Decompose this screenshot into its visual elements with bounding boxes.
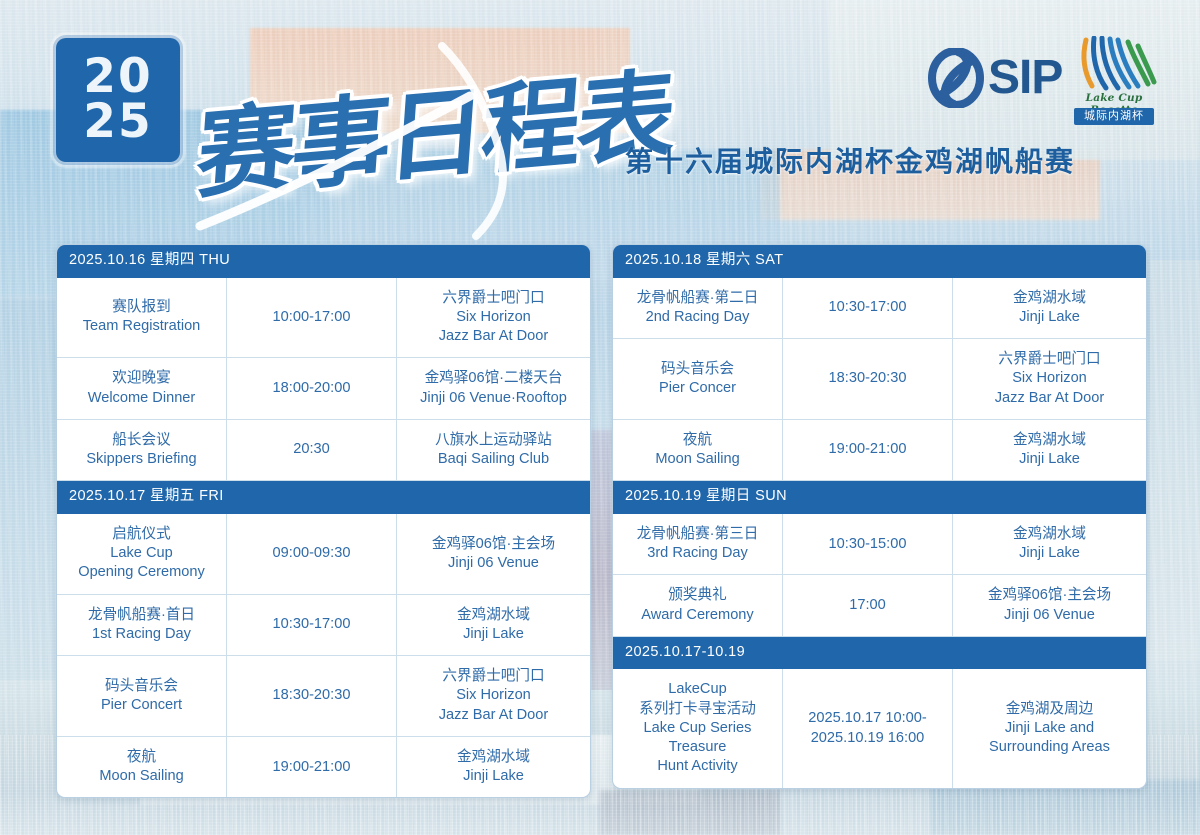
time-cell: 19:00-21:00 xyxy=(227,737,397,798)
time-cell: 2025.10.17 10:00-2025.10.19 16:00 xyxy=(783,669,953,787)
cell-line: 赛队报到 xyxy=(112,298,170,317)
cell-line: 18:00-20:00 xyxy=(273,379,351,398)
cell-line: Jinji Lake xyxy=(463,625,524,644)
table-row: 码头音乐会Pier Concert18:30-20:30六界爵士吧门口Six H… xyxy=(57,656,590,737)
cell-line: Jinji 06 Venue·Rooftop xyxy=(420,389,567,408)
venue-cell: 金鸡湖水域Jinji Lake xyxy=(953,420,1146,481)
event-cell: 夜航Moon Sailing xyxy=(57,737,227,798)
poster-subtitle: 第十六届城际内湖杯金鸡湖帆船赛 xyxy=(625,140,1075,180)
table-row: 欢迎晚宴Welcome Dinner18:00-20:00金鸡驿06馆·二楼天台… xyxy=(57,358,590,420)
event-cell: 龙骨帆船赛·第二日2nd Racing Day xyxy=(613,278,783,339)
event-cell: 颁奖典礼Award Ceremony xyxy=(613,575,783,636)
cell-line: 船长会议 xyxy=(112,431,170,450)
event-cell: 码头音乐会Pier Concert xyxy=(57,656,227,736)
logo-sip: SIP xyxy=(928,48,1062,108)
table-row: 夜航Moon Sailing19:00-21:00金鸡湖水域Jinji Lake xyxy=(613,420,1146,482)
table-row: 船长会议Skippers Briefing20:30八旗水上运动驿站Baqi S… xyxy=(57,420,590,482)
calligraphy-title: 赛事日程表 xyxy=(196,42,626,212)
venue-cell: 金鸡驿06馆·主会场Jinji 06 Venue xyxy=(953,575,1146,636)
cell-line: 码头音乐会 xyxy=(661,360,734,379)
time-cell: 19:00-21:00 xyxy=(783,420,953,481)
venue-cell: 八旗水上运动驿站Baqi Sailing Club xyxy=(397,420,590,481)
lake-cup-sail-fan-icon xyxy=(1072,36,1158,94)
day-header: 2025.10.17 星期五 FRI xyxy=(57,481,590,514)
cell-line: 金鸡驿06馆·主会场 xyxy=(432,535,555,554)
venue-cell: 六界爵士吧门口Six HorizonJazz Bar At Door xyxy=(397,656,590,736)
cell-line: 夜航 xyxy=(683,431,712,450)
cell-line: Lake Cup Series Treasure xyxy=(619,719,776,758)
cell-line: 龙骨帆船赛·首日 xyxy=(88,606,195,625)
event-cell: 龙骨帆船赛·首日1st Racing Day xyxy=(57,595,227,656)
cell-line: 19:00-21:00 xyxy=(829,440,907,459)
year-stamp-line2: 25 xyxy=(83,100,152,145)
cell-line: Hunt Activity xyxy=(657,757,737,776)
cell-line: Jinji Lake xyxy=(1019,544,1080,563)
sip-wordmark: SIP xyxy=(988,54,1062,102)
cell-line: 夜航 xyxy=(127,748,156,767)
cell-line: 六界爵士吧门口 xyxy=(442,289,544,308)
time-cell: 20:30 xyxy=(227,420,397,481)
cell-line: 19:00-21:00 xyxy=(273,758,351,777)
venue-cell: 金鸡湖水域Jinji Lake xyxy=(397,595,590,656)
cell-line: 龙骨帆船赛·第二日 xyxy=(637,289,759,308)
day-header: 2025.10.17-10.19 xyxy=(613,637,1146,670)
cell-line: Pier Concer xyxy=(659,379,736,398)
cell-line: 金鸡湖及周边 xyxy=(1006,700,1094,719)
event-cell: 夜航Moon Sailing xyxy=(613,420,783,481)
cell-line: Skippers Briefing xyxy=(86,450,196,469)
cell-line: 金鸡湖水域 xyxy=(1013,431,1086,450)
event-cell: 欢迎晚宴Welcome Dinner xyxy=(57,358,227,419)
event-cell: 龙骨帆船赛·第三日3rd Racing Day xyxy=(613,514,783,575)
cell-line: Jinji Lake xyxy=(463,767,524,786)
cell-line: 六界爵士吧门口 xyxy=(442,667,544,686)
time-cell: 10:30-17:00 xyxy=(783,278,953,339)
cell-line: 启航仪式 xyxy=(112,525,170,544)
venue-cell: 六界爵士吧门口Six HorizonJazz Bar At Door xyxy=(397,278,590,358)
calligraphy-title-text: 赛事日程表 xyxy=(193,36,678,218)
cell-line: Surrounding Areas xyxy=(989,738,1110,757)
cell-line: Team Registration xyxy=(83,317,201,336)
event-cell: 船长会议Skippers Briefing xyxy=(57,420,227,481)
venue-cell: 金鸡驿06馆·二楼天台Jinji 06 Venue·Rooftop xyxy=(397,358,590,419)
venue-cell: 金鸡驿06馆·主会场Jinji 06 Venue xyxy=(397,514,590,594)
cell-line: 金鸡驿06馆·二楼天台 xyxy=(425,369,563,388)
cell-line: 10:00-17:00 xyxy=(273,308,351,327)
cell-line: 码头音乐会 xyxy=(105,677,178,696)
cell-line: 金鸡湖水域 xyxy=(1013,525,1086,544)
day-header: 2025.10.16 星期四 THU xyxy=(57,245,590,278)
cell-line: 龙骨帆船赛·第三日 xyxy=(637,525,759,544)
time-cell: 10:30-17:00 xyxy=(227,595,397,656)
venue-cell: 金鸡湖水域Jinji Lake xyxy=(397,737,590,798)
cell-line: Moon Sailing xyxy=(99,767,183,786)
sip-swirl-icon xyxy=(928,48,984,108)
cell-line: 2025.10.19 16:00 xyxy=(811,729,925,748)
cell-line: Lake Cup xyxy=(110,544,172,563)
cell-line: 八旗水上运动驿站 xyxy=(435,431,552,450)
time-cell: 17:00 xyxy=(783,575,953,636)
table-row: 夜航Moon Sailing19:00-21:00金鸡湖水域Jinji Lake xyxy=(57,737,590,798)
cell-line: 10:30-17:00 xyxy=(273,615,351,634)
venue-cell: 六界爵士吧门口Six HorizonJazz Bar At Door xyxy=(953,339,1146,419)
cell-line: 17:00 xyxy=(849,596,886,615)
table-row: 赛队报到Team Registration10:00-17:00六界爵士吧门口S… xyxy=(57,278,590,359)
event-cell: 赛队报到Team Registration xyxy=(57,278,227,358)
cell-line: Jinji Lake and xyxy=(1005,719,1094,738)
event-cell: 启航仪式Lake CupOpening Ceremony xyxy=(57,514,227,594)
cell-line: 1st Racing Day xyxy=(92,625,191,644)
poster-header: 20 25 赛事日程表 第十六届城际内湖杯金鸡湖帆船赛 SIP Lake Cup… xyxy=(0,0,1200,230)
venue-cell: 金鸡湖水域Jinji Lake xyxy=(953,278,1146,339)
cell-line: 10:30-15:00 xyxy=(829,535,907,554)
cell-line: 10:30-17:00 xyxy=(829,298,907,317)
cell-line: Jinji 06 Venue xyxy=(1004,606,1095,625)
cell-line: Jazz Bar At Door xyxy=(995,389,1105,408)
cell-line: 09:00-09:30 xyxy=(273,544,351,563)
time-cell: 18:30-20:30 xyxy=(783,339,953,419)
cell-line: LakeCup xyxy=(668,680,726,699)
cell-line: 20:30 xyxy=(293,440,330,459)
cell-line: Pier Concert xyxy=(101,696,182,715)
table-row: 启航仪式Lake CupOpening Ceremony09:00-09:30金… xyxy=(57,514,590,595)
cell-line: 颁奖典礼 xyxy=(668,586,726,605)
schedule-table-right: 2025.10.18 星期六 SAT龙骨帆船赛·第二日2nd Racing Da… xyxy=(612,244,1147,789)
cell-line: 2nd Racing Day xyxy=(646,308,750,327)
cell-line: Welcome Dinner xyxy=(88,389,196,408)
venue-cell: 金鸡湖水域Jinji Lake xyxy=(953,514,1146,575)
cell-line: 金鸡湖水域 xyxy=(457,606,530,625)
event-cell: 码头音乐会Pier Concer xyxy=(613,339,783,419)
event-cell: LakeCup系列打卡寻宝活动Lake Cup Series TreasureH… xyxy=(613,669,783,787)
cell-line: Moon Sailing xyxy=(655,450,739,469)
time-cell: 18:30-20:30 xyxy=(227,656,397,736)
cell-line: Award Ceremony xyxy=(641,606,753,625)
lake-cup-chinese-name: 城际内湖杯 xyxy=(1074,108,1154,125)
cell-line: Jinji 06 Venue xyxy=(448,554,539,573)
table-row: 码头音乐会Pier Concer18:30-20:30六界爵士吧门口Six Ho… xyxy=(613,339,1146,420)
cell-line: 金鸡驿06馆·主会场 xyxy=(988,586,1111,605)
day-header: 2025.10.18 星期六 SAT xyxy=(613,245,1146,278)
cell-line: 2025.10.17 10:00- xyxy=(808,709,926,728)
time-cell: 09:00-09:30 xyxy=(227,514,397,594)
cell-line: Six Horizon xyxy=(456,686,531,705)
cell-line: 欢迎晚宴 xyxy=(112,369,170,388)
logo-lake-cup-regatta: Lake Cup Regatta 城际内湖杯 xyxy=(1068,36,1160,132)
time-cell: 10:30-15:00 xyxy=(783,514,953,575)
table-row: 龙骨帆船赛·第二日2nd Racing Day10:30-17:00金鸡湖水域J… xyxy=(613,278,1146,340)
cell-line: Baqi Sailing Club xyxy=(438,450,549,469)
cell-line: Jinji Lake xyxy=(1019,450,1080,469)
schedule-table-left: 2025.10.16 星期四 THU赛队报到Team Registration1… xyxy=(56,244,591,798)
cell-line: Jazz Bar At Door xyxy=(439,327,549,346)
cell-line: 18:30-20:30 xyxy=(829,369,907,388)
cell-line: 系列打卡寻宝活动 xyxy=(639,700,756,719)
cell-line: 金鸡湖水域 xyxy=(1013,289,1086,308)
day-header: 2025.10.19 星期日 SUN xyxy=(613,481,1146,514)
cell-line: 六界爵士吧门口 xyxy=(998,350,1100,369)
table-row: 龙骨帆船赛·首日1st Racing Day10:30-17:00金鸡湖水域Ji… xyxy=(57,595,590,657)
table-row: 颁奖典礼Award Ceremony17:00金鸡驿06馆·主会场Jinji 0… xyxy=(613,575,1146,637)
cell-line: 18:30-20:30 xyxy=(273,686,351,705)
cell-line: Opening Ceremony xyxy=(78,563,205,582)
table-row: 龙骨帆船赛·第三日3rd Racing Day10:30-15:00金鸡湖水域J… xyxy=(613,514,1146,576)
table-row: LakeCup系列打卡寻宝活动Lake Cup Series TreasureH… xyxy=(613,669,1146,787)
cell-line: Six Horizon xyxy=(1012,369,1087,388)
venue-cell: 金鸡湖及周边Jinji Lake andSurrounding Areas xyxy=(953,669,1146,787)
year-stamp-2025: 20 25 xyxy=(56,38,180,162)
cell-line: 金鸡湖水域 xyxy=(457,748,530,767)
time-cell: 18:00-20:00 xyxy=(227,358,397,419)
time-cell: 10:00-17:00 xyxy=(227,278,397,358)
cell-line: Jazz Bar At Door xyxy=(439,706,549,725)
cell-line: Six Horizon xyxy=(456,308,531,327)
cell-line: 3rd Racing Day xyxy=(647,544,748,563)
cell-line: Jinji Lake xyxy=(1019,308,1080,327)
